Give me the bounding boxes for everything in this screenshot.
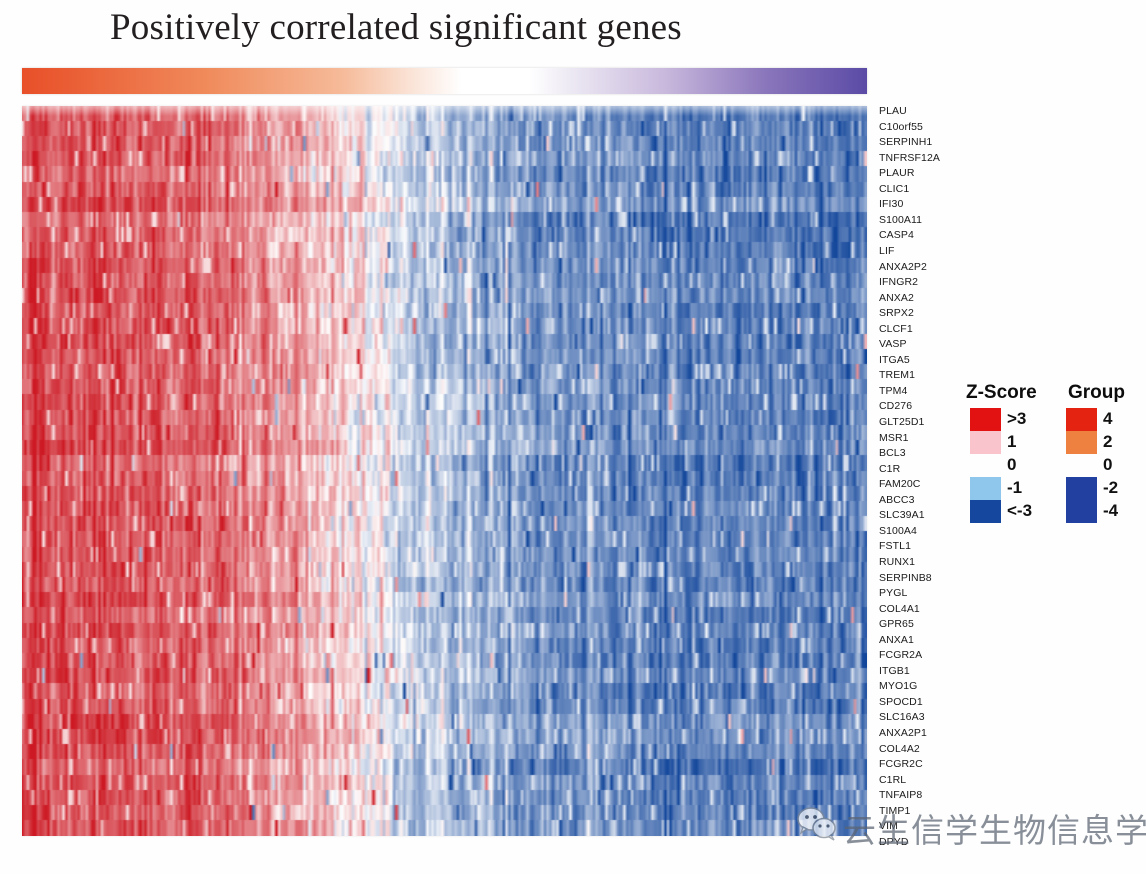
gene-label: CASP4 xyxy=(879,230,914,241)
legend-swatch xyxy=(1066,431,1097,454)
group-annotation-bar xyxy=(22,68,867,94)
legend-swatch xyxy=(970,454,1001,477)
legend-swatch xyxy=(1066,408,1097,431)
watermark-text: 云生信学生物信息学 xyxy=(843,804,1146,852)
gene-label: ANXA2P1 xyxy=(879,728,927,739)
gene-label-list: PLAUC10orf55SERPINH1TNFRSF12APLAURCLIC1I… xyxy=(879,104,975,856)
gene-label: COL4A1 xyxy=(879,604,920,615)
legend-label: 4 xyxy=(1103,409,1112,429)
legend-swatch xyxy=(970,431,1001,454)
legend-label: -1 xyxy=(1007,478,1022,498)
heatmap-panel xyxy=(22,106,867,836)
gene-label: ITGB1 xyxy=(879,666,910,677)
gene-label: CD276 xyxy=(879,401,912,412)
gene-label: RUNX1 xyxy=(879,557,915,568)
gene-label: FCGR2C xyxy=(879,759,923,770)
legend-swatch xyxy=(1066,500,1097,523)
gene-label: S100A11 xyxy=(879,215,922,226)
legend-label: -4 xyxy=(1103,501,1118,521)
gene-label: CLIC1 xyxy=(879,184,909,195)
gene-label: SERPINH1 xyxy=(879,137,932,148)
legend-swatch xyxy=(970,500,1001,523)
gene-label: FAM20C xyxy=(879,479,920,490)
gene-label: IFI30 xyxy=(879,199,903,210)
legend-label: 0 xyxy=(1103,455,1112,475)
gene-label: ITGA5 xyxy=(879,355,910,366)
gene-label: SLC39A1 xyxy=(879,510,925,521)
gene-label: C10orf55 xyxy=(879,122,923,133)
legend-swatch xyxy=(970,408,1001,431)
gene-label: MYO1G xyxy=(879,681,917,692)
gene-label: FCGR2A xyxy=(879,650,922,661)
gene-label: ANXA2P2 xyxy=(879,262,927,273)
gene-label: GLT25D1 xyxy=(879,417,924,428)
gene-label: TPM4 xyxy=(879,386,907,397)
gene-label: TREM1 xyxy=(879,370,915,381)
gene-label: C1R xyxy=(879,464,900,475)
gene-label: LIF xyxy=(879,246,894,257)
gene-label: VASP xyxy=(879,339,907,350)
page-title: Positively correlated significant genes xyxy=(110,6,810,52)
legend-label: <-3 xyxy=(1007,501,1032,521)
gene-label: TNFRSF12A xyxy=(879,153,940,164)
gene-label: SRPX2 xyxy=(879,308,914,319)
gene-label: PYGL xyxy=(879,588,907,599)
gene-label: ABCC3 xyxy=(879,495,915,506)
heatmap-canvas xyxy=(22,106,867,836)
legend-label: 2 xyxy=(1103,432,1112,452)
gene-label: SERPINB8 xyxy=(879,573,932,584)
gene-label: FSTL1 xyxy=(879,541,911,552)
heatmap-figure: Positively correlated significant genes … xyxy=(0,0,1146,874)
watermark: 云生信学生物信息学 xyxy=(797,800,1142,852)
gene-label: COL4A2 xyxy=(879,744,920,755)
gene-label: SLC16A3 xyxy=(879,712,925,723)
gene-label: BCL3 xyxy=(879,448,906,459)
legend-label: >3 xyxy=(1007,409,1026,429)
gene-label: PLAU xyxy=(879,106,907,117)
legend-label: -2 xyxy=(1103,478,1118,498)
gene-label: CLCF1 xyxy=(879,324,913,335)
gene-label: ANXA1 xyxy=(879,635,914,646)
gene-label: S100A4 xyxy=(879,526,917,537)
gene-label: IFNGR2 xyxy=(879,277,918,288)
gene-label: SPOCD1 xyxy=(879,697,923,708)
legend-swatch xyxy=(970,477,1001,500)
legend-title-group: Group xyxy=(1068,382,1125,404)
gene-label: PLAUR xyxy=(879,168,915,179)
legend-label: 0 xyxy=(1007,455,1016,475)
gene-label: GPR65 xyxy=(879,619,914,630)
wechat-icon xyxy=(797,806,837,842)
gene-label: ANXA2 xyxy=(879,293,914,304)
legend-group: Z-Score Group >310-1<-3 420-2-4 xyxy=(966,382,1142,544)
legend-title-zscore: Z-Score xyxy=(966,382,1037,404)
gene-label: C1RL xyxy=(879,775,906,786)
legend-swatch xyxy=(1066,454,1097,477)
gene-label: MSR1 xyxy=(879,433,909,444)
legend-swatch xyxy=(1066,477,1097,500)
legend-label: 1 xyxy=(1007,432,1016,452)
